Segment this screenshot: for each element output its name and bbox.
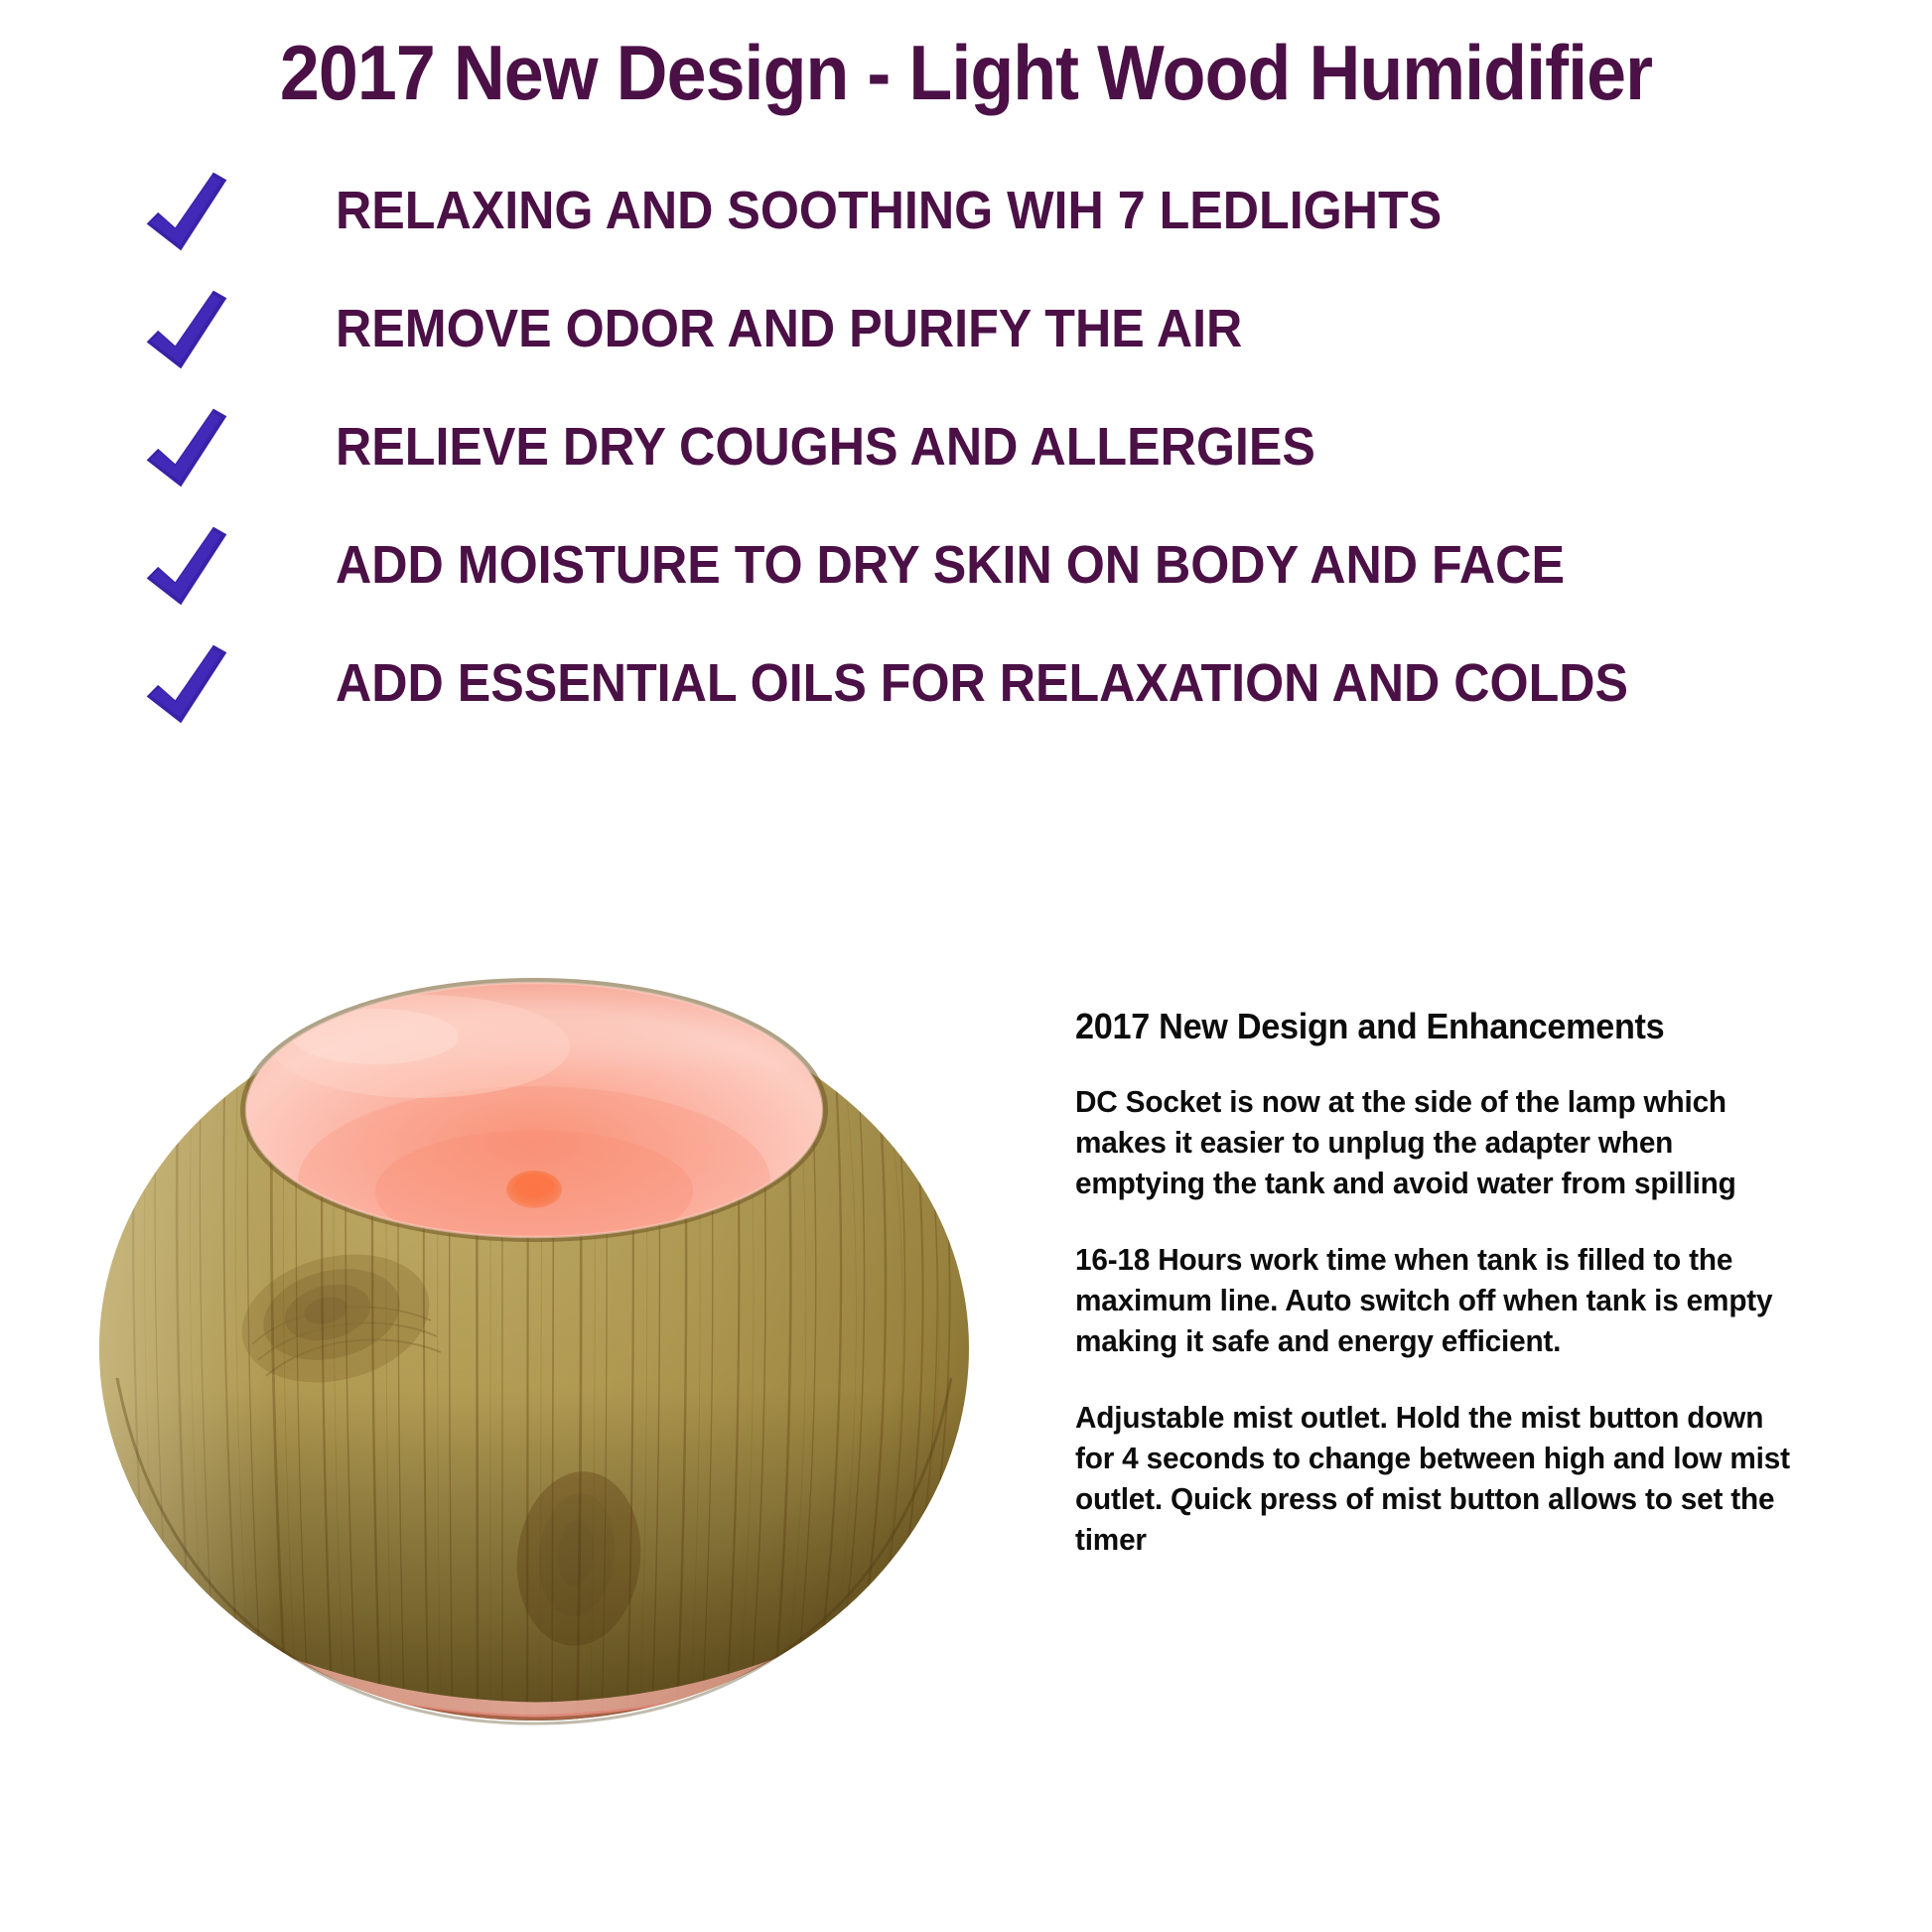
check-icon bbox=[139, 517, 234, 613]
enhancements-paragraph: 16-18 Hours work time when tank is fille… bbox=[1075, 1239, 1800, 1361]
feature-item: ADD ESSENTIAL OILS FOR RELAXATION AND CO… bbox=[0, 623, 1932, 742]
check-icon bbox=[139, 635, 234, 731]
feature-item: RELIEVE DRY COUGHS AND ALLERGIES bbox=[0, 387, 1932, 505]
enhancements-panel: 2017 New Design and Enhancements DC Sock… bbox=[1075, 1006, 1830, 1560]
enhancements-paragraph: DC Socket is now at the side of the lamp… bbox=[1075, 1081, 1800, 1203]
feature-item: REMOVE ODOR AND PURIFY THE AIR bbox=[0, 269, 1932, 387]
page-title: 2017 New Design - Light Wood Humidifier bbox=[77, 28, 1855, 118]
enhancements-paragraph: Adjustable mist outlet. Hold the mist bu… bbox=[1075, 1397, 1800, 1560]
feature-label: REMOVE ODOR AND PURIFY THE AIR bbox=[336, 298, 1242, 359]
product-image bbox=[77, 951, 991, 1745]
feature-label: RELIEVE DRY COUGHS AND ALLERGIES bbox=[336, 416, 1315, 478]
feature-list: RELAXING AND SOOTHING WIH 7 LEDLIGHTS RE… bbox=[0, 151, 1932, 742]
feature-label: ADD MOISTURE TO DRY SKIN ON BODY AND FAC… bbox=[336, 534, 1565, 596]
feature-item: ADD MOISTURE TO DRY SKIN ON BODY AND FAC… bbox=[0, 505, 1932, 623]
enhancements-heading: 2017 New Design and Enhancements bbox=[1075, 1006, 1792, 1047]
feature-item: RELAXING AND SOOTHING WIH 7 LEDLIGHTS bbox=[0, 151, 1932, 269]
check-icon bbox=[139, 399, 234, 494]
check-icon bbox=[139, 163, 234, 258]
feature-label: RELAXING AND SOOTHING WIH 7 LEDLIGHTS bbox=[336, 180, 1442, 241]
product-infographic: 2017 New Design - Light Wood Humidifier … bbox=[0, 0, 1932, 1932]
check-icon bbox=[139, 281, 234, 376]
feature-label: ADD ESSENTIAL OILS FOR RELAXATION AND CO… bbox=[336, 652, 1628, 714]
